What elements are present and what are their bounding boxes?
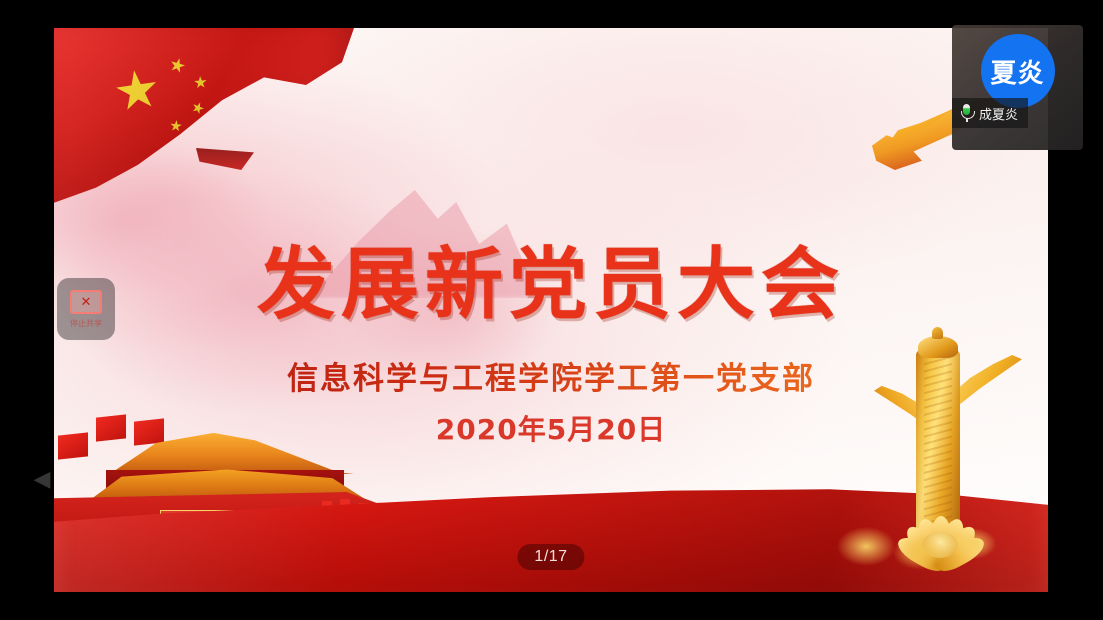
- slide-title: 发展新党员大会: [54, 246, 1048, 324]
- stop-share-button[interactable]: ✕ 停止共享: [57, 278, 115, 340]
- flag-star-small-4: [169, 119, 182, 132]
- screen-share-viewport: 中华人民共和国万岁: [0, 0, 1103, 620]
- gold-scroll-ornament: [832, 510, 1022, 580]
- participant-name: 成夏炎: [979, 104, 1018, 123]
- slide-date: 2020年5月20日: [54, 408, 1048, 448]
- flag-star-small-1: [168, 56, 187, 75]
- screen-share-stop-icon: ✕: [70, 290, 102, 314]
- participant-nameplate: 成夏炎: [952, 98, 1028, 128]
- avatar: 夏炎: [981, 34, 1055, 108]
- shared-slide[interactable]: 中华人民共和国万岁: [54, 28, 1048, 592]
- slide-subtitle: 信息科学与工程学院学工第一党支部: [54, 353, 1048, 398]
- flag-star-small-2: [194, 76, 208, 90]
- page-indicator: 1/17: [517, 544, 584, 570]
- china-flag-icon: [54, 28, 354, 218]
- close-icon: ✕: [81, 295, 92, 308]
- flag-fold: [196, 148, 254, 170]
- microphone-icon[interactable]: [960, 104, 973, 122]
- stop-share-label: 停止共享: [70, 318, 102, 329]
- flag-star-large: [113, 67, 160, 114]
- participant-video-tile[interactable]: 夏炎 成夏炎: [952, 25, 1083, 150]
- previous-slide-arrow-icon[interactable]: ◀: [31, 462, 53, 496]
- flag-star-small-3: [190, 100, 206, 116]
